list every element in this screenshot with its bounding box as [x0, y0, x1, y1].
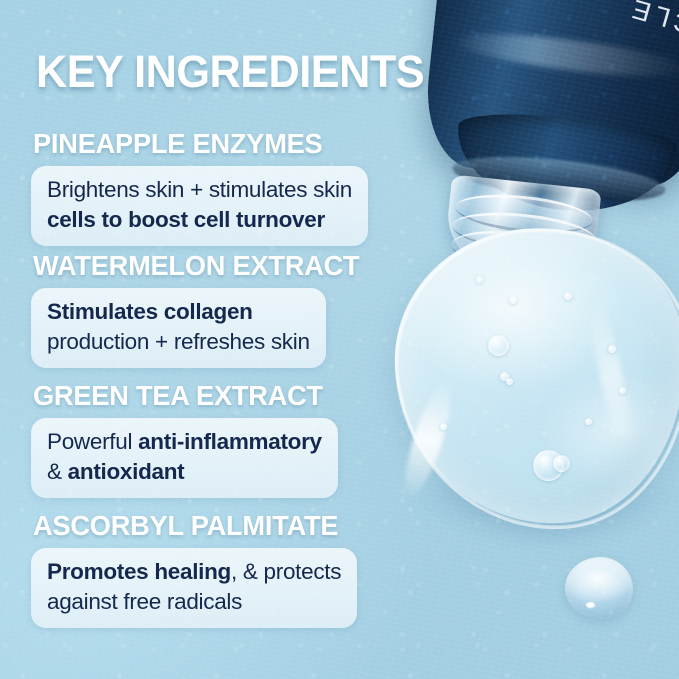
- ingredient-heading: PINEAPPLE ENZYMES: [33, 128, 358, 160]
- ingredient-block: ASCORBYL PALMITATEPromotes healing, & pr…: [31, 510, 357, 628]
- ingredient-block: GREEN TEA EXTRACTPowerful anti-inflammat…: [31, 380, 338, 498]
- text-plain: Powerful: [47, 429, 138, 454]
- ingredient-description-line: Promotes healing, & protects: [47, 557, 341, 587]
- ingredient-description-line: Brightens skin + stimulates skin: [47, 175, 352, 205]
- ingredient-description-panel: Stimulates collagenproduction + refreshe…: [31, 288, 326, 368]
- ingredient-infographic: CLE KEY INGREDIENTS PINEAPPLE ENZYMESBri…: [0, 0, 679, 679]
- text-emphasis: Stimulates collagen: [47, 299, 253, 324]
- ingredient-heading: WATERMELON EXTRACT: [33, 250, 359, 282]
- text-content: KEY INGREDIENTS PINEAPPLE ENZYMESBrighte…: [0, 0, 679, 679]
- text-plain: production + refreshes skin: [47, 329, 310, 354]
- ingredient-description-line: & antioxidant: [47, 457, 322, 487]
- text-plain: &: [47, 459, 68, 484]
- ingredient-block: PINEAPPLE ENZYMESBrightens skin + stimul…: [31, 128, 368, 246]
- text-emphasis: Promotes healing: [47, 559, 231, 584]
- ingredient-heading: GREEN TEA EXTRACT: [33, 380, 329, 412]
- ingredient-description-panel: Promotes healing, & protectsagainst free…: [31, 548, 357, 628]
- ingredient-description-line: against free radicals: [47, 587, 341, 617]
- text-plain: Brightens skin + stimulates skin: [47, 177, 352, 202]
- ingredient-heading: ASCORBYL PALMITATE: [33, 510, 347, 542]
- page-title: KEY INGREDIENTS: [36, 46, 424, 98]
- ingredient-description-panel: Powerful anti-inflammatory& antioxidant: [31, 418, 338, 498]
- text-plain: , & protects: [231, 559, 341, 584]
- ingredient-description-panel: Brightens skin + stimulates skincells to…: [31, 166, 368, 246]
- ingredient-description-line: cells to boost cell turnover: [47, 205, 352, 235]
- ingredient-block: WATERMELON EXTRACTStimulates collagenpro…: [31, 250, 370, 368]
- text-plain: against free radicals: [47, 589, 242, 614]
- text-emphasis: antioxidant: [68, 459, 185, 484]
- ingredient-description-line: Stimulates collagen: [47, 297, 310, 327]
- ingredient-description-line: Powerful anti-inflammatory: [47, 427, 322, 457]
- ingredient-description-line: production + refreshes skin: [47, 327, 310, 357]
- text-emphasis: anti-inflammatory: [138, 429, 322, 454]
- text-emphasis: cells to boost cell turnover: [47, 207, 325, 232]
